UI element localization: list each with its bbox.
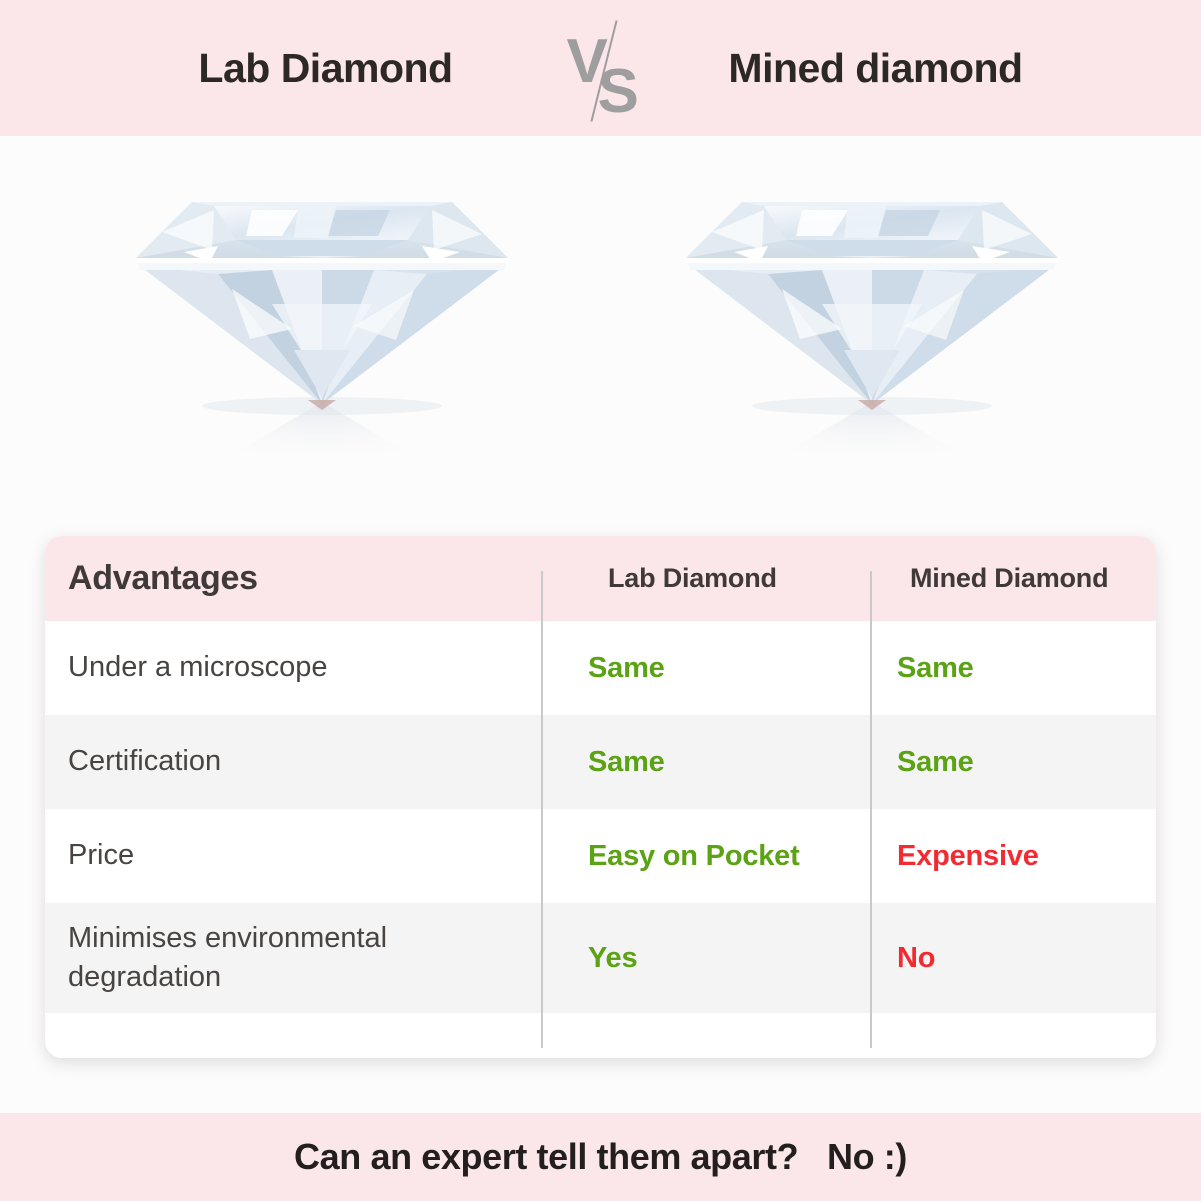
row-lab-value: Same	[588, 746, 665, 778]
table-row: Price Easy on Pocket Expensive	[45, 809, 1156, 903]
table-header-mined: Mined Diamond	[897, 563, 1108, 594]
row-mined-cell: Same	[870, 746, 1156, 779]
row-label: Minimises environmental degradation	[68, 922, 387, 993]
diamond-images	[0, 136, 1201, 526]
row-lab-cell: Yes	[541, 942, 870, 975]
row-mined-cell: Same	[870, 652, 1156, 685]
row-label-cell: Certification	[45, 742, 541, 781]
row-mined-cell: Expensive	[870, 840, 1156, 873]
row-lab-value: Easy on Pocket	[588, 840, 800, 872]
footer-band: Can an expert tell them apart? No :)	[0, 1113, 1201, 1201]
row-mined-cell: No	[870, 942, 1156, 975]
row-mined-value: No	[897, 942, 935, 974]
row-label-cell: Price	[45, 836, 541, 875]
table-header-lab: Lab Diamond	[588, 563, 777, 594]
table-row: Minimises environmental degradation Yes …	[45, 903, 1156, 1013]
row-mined-value: Expensive	[897, 840, 1039, 872]
header-title-lab: Lab Diamond	[111, 45, 541, 92]
header-band: Lab Diamond V S Mined diamond	[0, 0, 1201, 136]
row-lab-cell: Easy on Pocket	[541, 840, 870, 873]
column-divider-1	[541, 571, 543, 1048]
column-divider-2	[870, 571, 872, 1048]
header-title-mined: Mined diamond	[661, 45, 1091, 92]
vs-letter-s: S	[598, 61, 639, 123]
table-row: Certification Same Same	[45, 715, 1156, 809]
table-header-advantages: Advantages	[68, 559, 258, 597]
row-label: Certification	[68, 745, 221, 777]
row-lab-cell: Same	[541, 746, 870, 779]
row-mined-value: Same	[897, 652, 974, 684]
diamond-image-lab	[122, 154, 522, 514]
comparison-table: Advantages Lab Diamond Mined Diamond Und…	[45, 536, 1156, 1058]
diamond-image-mined	[672, 154, 1072, 514]
row-lab-value: Same	[588, 652, 665, 684]
table-row: Under a microscope Same Same	[45, 621, 1156, 715]
row-lab-cell: Same	[541, 652, 870, 685]
vs-icon: V S	[541, 13, 661, 123]
row-label: Price	[68, 839, 134, 871]
row-mined-value: Same	[897, 746, 974, 778]
row-label-cell: Under a microscope	[45, 648, 541, 687]
row-label: Under a microscope	[68, 651, 328, 683]
row-lab-value: Yes	[588, 942, 637, 974]
table-header-advantages-cell: Advantages	[45, 559, 541, 598]
row-label-cell: Minimises environmental degradation	[45, 919, 541, 998]
table-header-lab-cell: Lab Diamond	[541, 563, 870, 594]
table-header-row: Advantages Lab Diamond Mined Diamond	[45, 536, 1156, 621]
footer-question: Can an expert tell them apart? No :)	[294, 1136, 907, 1178]
table-header-mined-cell: Mined Diamond	[870, 563, 1156, 594]
